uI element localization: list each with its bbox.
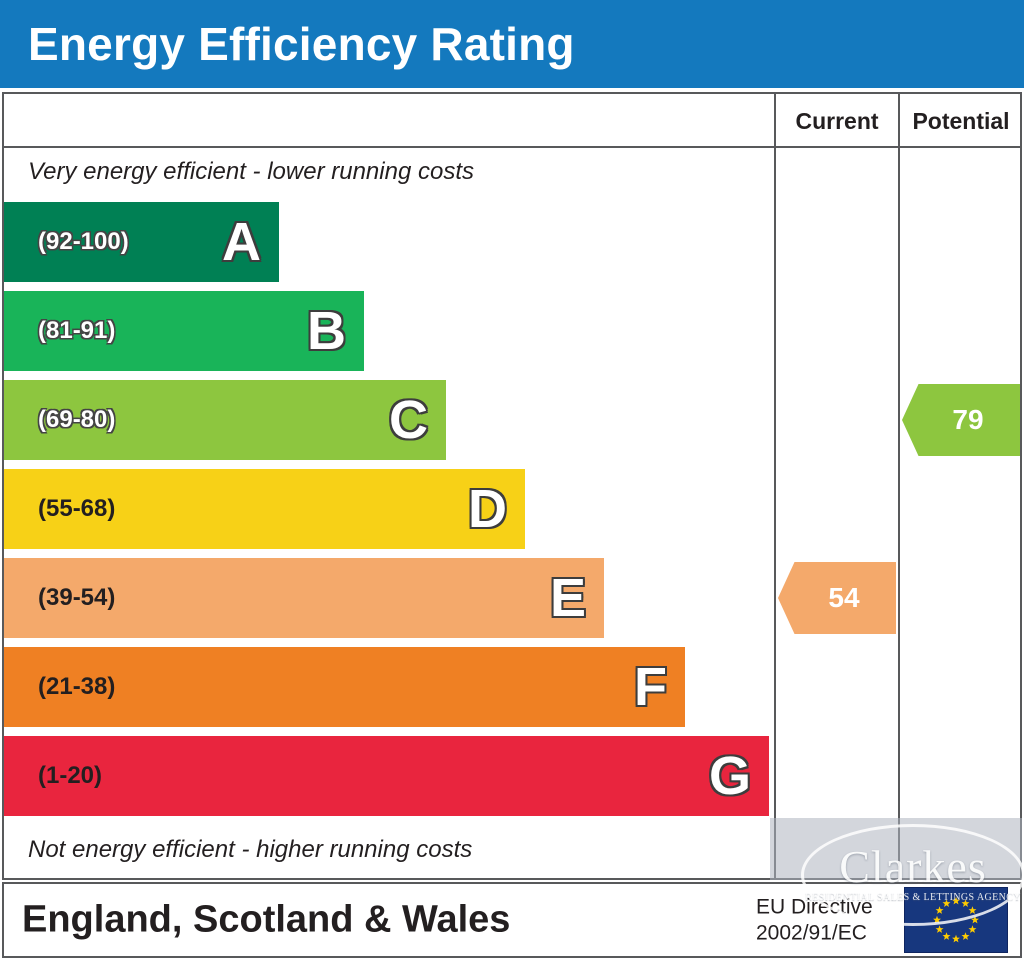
rating-value-potential: 79 [952, 404, 983, 436]
chart-footer: England, Scotland & Wales EU Directive 2… [2, 882, 1022, 958]
band-letter-d: D [468, 482, 507, 536]
band-row-g: (1-20)G [4, 736, 769, 816]
band-row-d: (55-68)D [4, 469, 525, 549]
band-letter-e: E [550, 571, 586, 625]
rating-value-current: 54 [828, 582, 859, 614]
band-letter-b: B [307, 304, 346, 358]
footer-directive: EU Directive 2002/91/EC [756, 894, 873, 945]
band-range-d: (55-68) [38, 495, 115, 523]
band-range-a: (92-100) [38, 228, 129, 256]
footer-region-label: England, Scotland & Wales [22, 899, 510, 942]
footer-directive-line1: EU Directive [756, 894, 873, 920]
band-range-e: (39-54) [38, 584, 115, 612]
caption-not-efficient: Not energy efficient - higher running co… [28, 836, 472, 864]
rating-arrow-potential: 79 [902, 384, 1020, 456]
eu-flag-stars [905, 888, 1007, 952]
band-letter-c: C [389, 393, 428, 447]
band-row-c: (69-80)C [4, 380, 446, 460]
watermark-haze [770, 818, 1022, 880]
band-range-g: (1-20) [38, 762, 102, 790]
band-range-c: (69-80) [38, 406, 115, 434]
band-letter-a: A [222, 215, 261, 269]
caption-very-efficient: Very energy efficient - lower running co… [28, 158, 474, 186]
page-title: Energy Efficiency Rating [0, 0, 1024, 88]
current-column-divider [774, 94, 776, 878]
band-bars: (92-100)A(81-91)B(69-80)C(55-68)D(39-54)… [4, 202, 772, 830]
band-row-e: (39-54)E [4, 558, 604, 638]
chart-body: Current Potential Very energy efficient … [2, 92, 1022, 880]
energy-efficiency-rating-chart: Energy Efficiency Rating Current Potenti… [0, 0, 1024, 960]
eu-flag-icon [904, 887, 1008, 953]
band-row-a: (92-100)A [4, 202, 279, 282]
column-header-current: Current [776, 94, 898, 148]
footer-directive-line2: 2002/91/EC [756, 920, 873, 946]
rating-arrow-current: 54 [778, 562, 896, 634]
band-range-f: (21-38) [38, 673, 115, 701]
band-letter-g: G [709, 749, 751, 803]
potential-column-divider [898, 94, 900, 878]
band-row-f: (21-38)F [4, 647, 685, 727]
band-range-b: (81-91) [38, 317, 115, 345]
column-header-potential: Potential [900, 94, 1022, 148]
band-row-b: (81-91)B [4, 291, 364, 371]
band-letter-f: F [634, 660, 667, 714]
